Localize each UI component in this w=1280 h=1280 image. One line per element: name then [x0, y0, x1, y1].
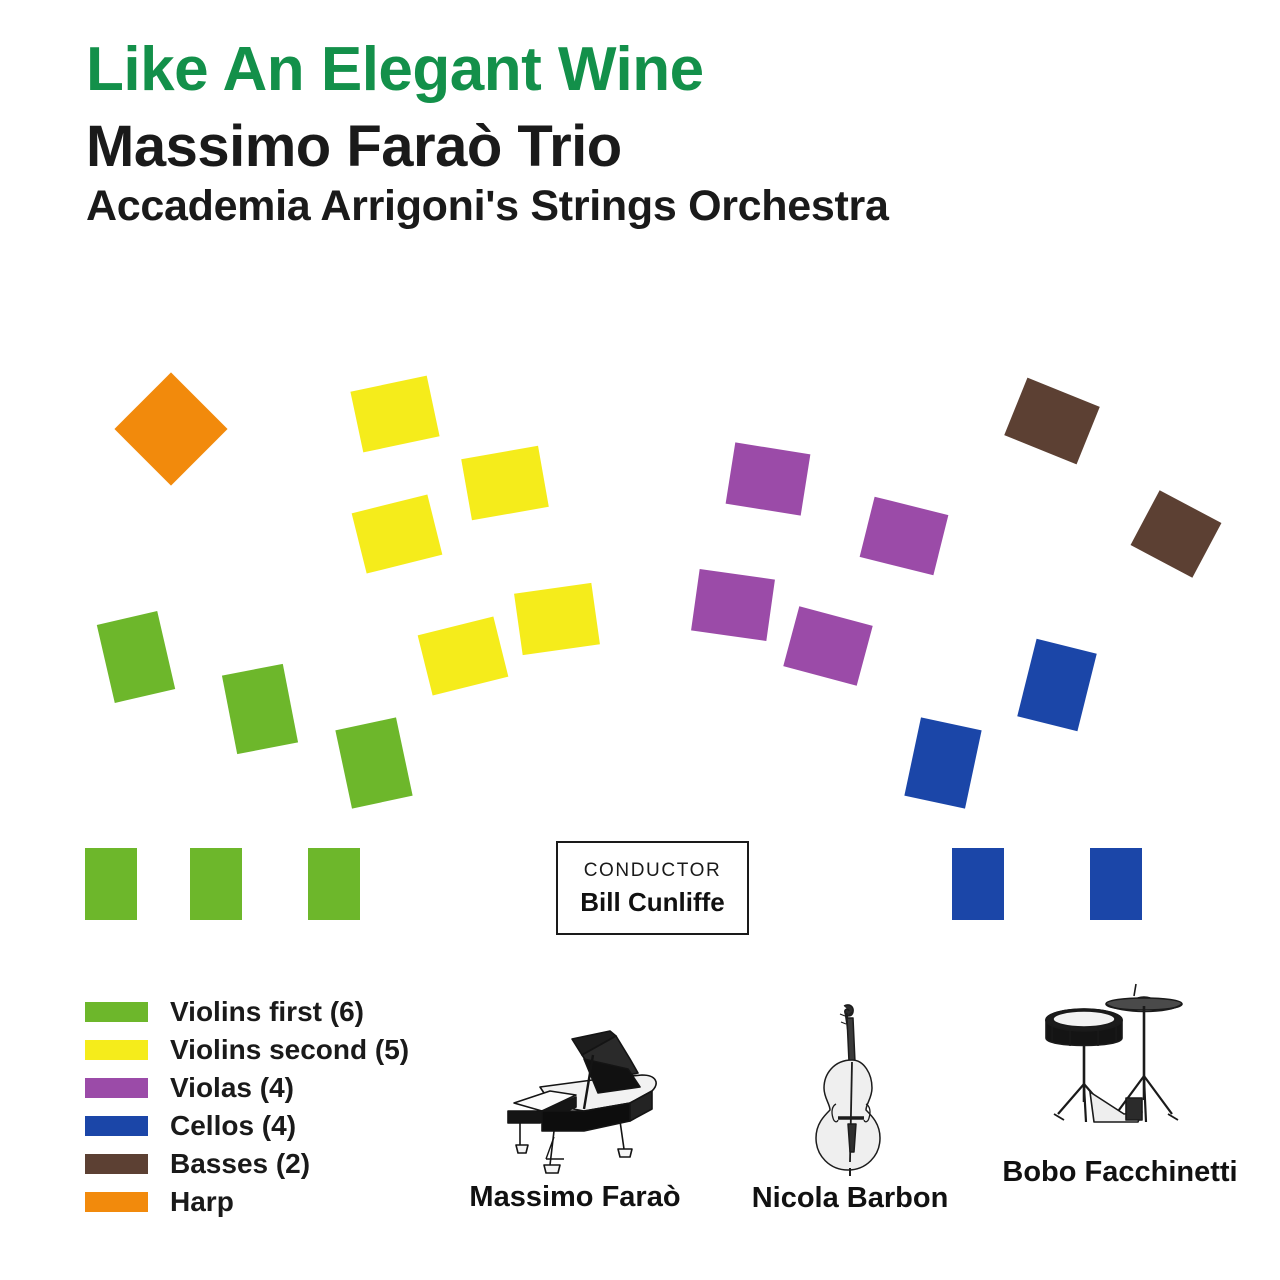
seat-basses	[1004, 378, 1100, 465]
double-bass-icon	[804, 1000, 896, 1178]
seat-cellos	[1017, 639, 1097, 732]
seat-cellos	[1090, 848, 1142, 920]
legend-row-basses: Basses (2)	[85, 1145, 409, 1183]
legend-swatch-cellos	[85, 1116, 148, 1136]
seat-violins-second	[350, 376, 439, 453]
conductor-box: CONDUCTOR Bill Cunliffe	[556, 841, 749, 935]
section-legend: Violins first (6)Violins second (5)Viola…	[85, 993, 409, 1221]
performer-name: Bobo Facchinetti	[995, 1158, 1245, 1187]
legend-label: Cellos (4)	[170, 1112, 296, 1140]
performer-nicola-barbon: Nicola Barbon	[735, 1000, 965, 1213]
legend-label: Violas (4)	[170, 1074, 294, 1102]
seat-cellos	[952, 848, 1004, 920]
seat-harp	[114, 372, 227, 485]
seat-violas	[726, 442, 811, 515]
seat-violins-first	[335, 717, 412, 808]
conductor-name: Bill Cunliffe	[580, 889, 724, 915]
legend-row-violas: Violas (4)	[85, 1069, 409, 1107]
conductor-label: CONDUCTOR	[584, 861, 722, 880]
legend-swatch-violins-first	[85, 1002, 148, 1022]
legend-label: Harp	[170, 1188, 234, 1216]
performer-name: Nicola Barbon	[735, 1184, 965, 1213]
album-cover: Like An Elegant Wine Massimo Faraò Trio …	[0, 0, 1280, 1280]
seat-violins-first	[85, 848, 137, 920]
legend-row-violins-first: Violins first (6)	[85, 993, 409, 1031]
legend-label: Basses (2)	[170, 1150, 310, 1178]
legend-row-harp: Harp	[85, 1183, 409, 1221]
seat-violins-second	[461, 446, 549, 521]
performer-name: Massimo Faraò	[455, 1183, 695, 1212]
seat-violas	[783, 606, 872, 686]
legend-swatch-violas	[85, 1078, 148, 1098]
seat-violas	[860, 497, 949, 576]
legend-row-cellos: Cellos (4)	[85, 1107, 409, 1145]
seat-cellos	[904, 717, 981, 808]
performer-massimo-farao: Massimo Faraò	[455, 1025, 695, 1212]
artist-name: Massimo Faraò Trio	[86, 117, 889, 178]
seat-basses	[1131, 490, 1222, 578]
legend-label: Violins first (6)	[170, 998, 364, 1026]
legend-swatch-harp	[85, 1192, 148, 1212]
legend-swatch-basses	[85, 1154, 148, 1174]
grand-piano-icon	[480, 1025, 670, 1177]
legend-label: Violins second (5)	[170, 1036, 409, 1064]
seat-violins-second	[418, 616, 509, 695]
seat-violins-first	[190, 848, 242, 920]
performer-bobo-facchinetti: Bobo Facchinetti	[995, 972, 1245, 1187]
legend-swatch-violins-second	[85, 1040, 148, 1060]
seat-violins-first	[97, 611, 175, 703]
seat-violins-second	[352, 494, 443, 573]
legend-row-violins-second: Violins second (5)	[85, 1031, 409, 1069]
album-title: Like An Elegant Wine	[86, 38, 889, 101]
seat-violas	[691, 569, 775, 641]
cover-header: Like An Elegant Wine Massimo Faraò Trio …	[86, 38, 889, 229]
seat-violins-first	[308, 848, 360, 920]
drum-kit-icon	[1030, 972, 1210, 1152]
orchestra-name: Accademia Arrigoni's Strings Orchestra	[86, 184, 889, 229]
seat-violins-second	[514, 583, 600, 655]
seat-violins-first	[222, 664, 298, 754]
